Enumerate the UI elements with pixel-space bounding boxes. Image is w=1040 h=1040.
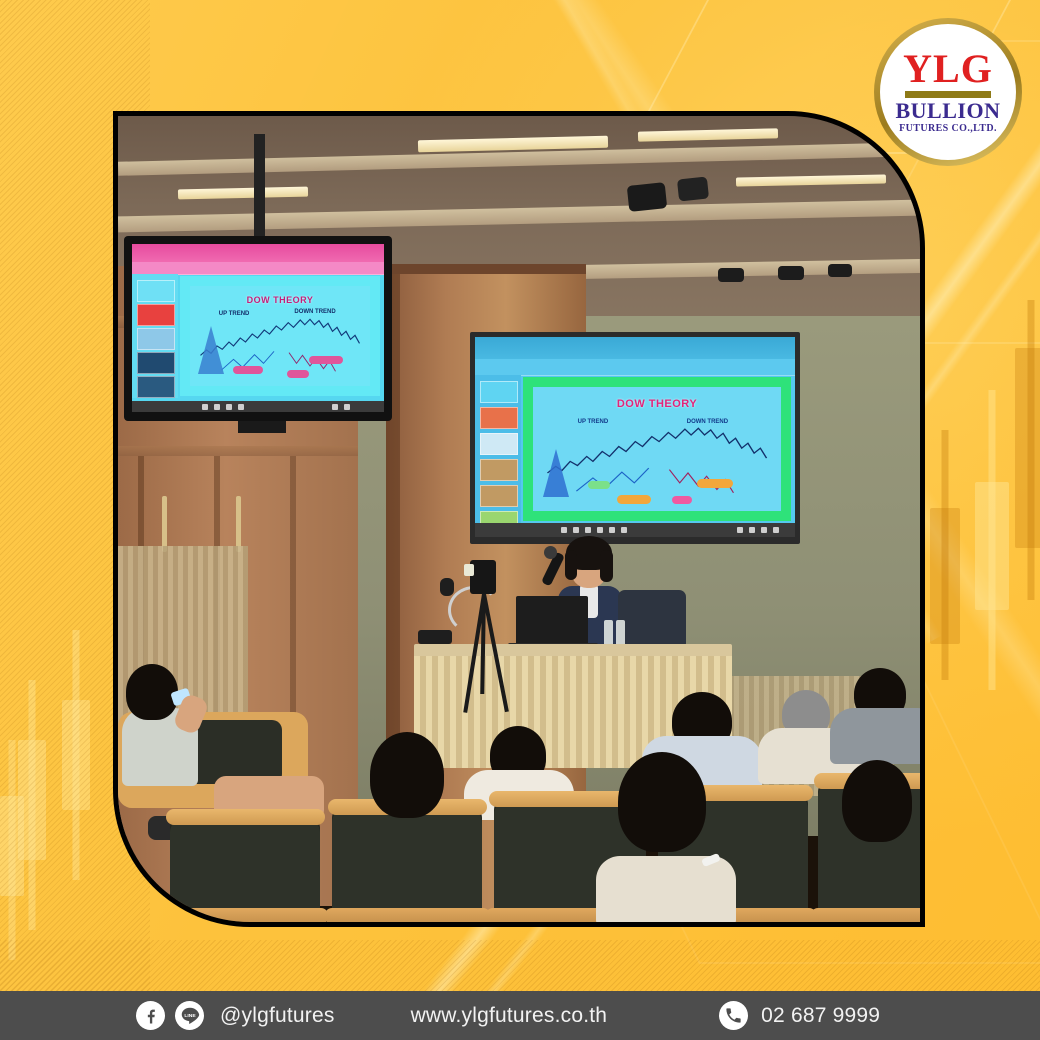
pillar-top-trim bbox=[386, 264, 586, 274]
phone-icon[interactable] bbox=[719, 1001, 748, 1030]
logo-divider-bar bbox=[905, 91, 991, 98]
ceiling-speaker bbox=[627, 182, 668, 212]
gooseneck-mic-head bbox=[440, 578, 454, 596]
projector-screen: DOW THEORY UP TREND DOWN TREND bbox=[475, 337, 795, 537]
presenter-hair bbox=[565, 550, 577, 580]
candlestick-decor bbox=[1015, 300, 1040, 600]
slide-thumbnail[interactable] bbox=[480, 381, 518, 403]
powerpoint-titlebar bbox=[132, 244, 384, 262]
slide-thumbnail[interactable] bbox=[480, 485, 518, 507]
slide-badge-sell bbox=[672, 496, 692, 504]
dow-theory-zigzag-chart bbox=[533, 387, 781, 511]
door-seam bbox=[290, 456, 296, 716]
slide-triangle-shape bbox=[543, 449, 569, 497]
slide-note-pill bbox=[233, 366, 263, 374]
attendee-head bbox=[126, 664, 178, 720]
slide-thumbnail[interactable] bbox=[480, 407, 518, 429]
desk-equipment bbox=[418, 630, 452, 644]
slide-canvas: DOW THEORY UP TREND DOWN TREND bbox=[180, 276, 380, 396]
website-text[interactable]: www.ylgfutures.co.th bbox=[411, 1004, 608, 1028]
phone-number-text[interactable]: 02 687 9999 bbox=[761, 1004, 880, 1028]
audience-shoulders bbox=[830, 708, 920, 764]
powerpoint-slide-panel bbox=[475, 375, 521, 523]
svg-text:LINE: LINE bbox=[184, 1012, 196, 1018]
door-handle bbox=[162, 496, 167, 552]
microphone-head bbox=[544, 546, 557, 559]
logo-inner: YLG BULLION FUTURES CO.,LTD. bbox=[880, 24, 1016, 160]
camera-lens bbox=[464, 564, 474, 576]
logo-bullion-text: BULLION bbox=[896, 100, 1001, 122]
seminar-photo: DOW THEORY UP TREND DOWN TREND bbox=[118, 116, 920, 922]
website-group[interactable]: www.ylgfutures.co.th bbox=[411, 1004, 608, 1028]
presenter-laptop bbox=[516, 596, 588, 646]
slide-note-pill bbox=[697, 479, 733, 488]
audience-shoulders-front bbox=[596, 856, 736, 922]
ceiling-speaker bbox=[677, 176, 709, 201]
slide-note-pill bbox=[309, 356, 343, 364]
powerpoint-titlebar bbox=[475, 337, 795, 359]
ylg-logo: YLG BULLION FUTURES CO.,LTD. bbox=[874, 18, 1022, 166]
door-handle bbox=[236, 496, 241, 552]
water-bottle bbox=[604, 620, 613, 646]
track-light bbox=[778, 266, 804, 280]
slide-content: DOW THEORY UP TREND DOWN TREND bbox=[190, 286, 370, 386]
audience-head-front bbox=[370, 732, 444, 818]
social-handle-text[interactable]: @ylgfutures bbox=[220, 1004, 335, 1028]
tv-mount-arm bbox=[254, 134, 265, 240]
slide-thumbnail[interactable] bbox=[137, 376, 175, 398]
powerpoint-slide-panel bbox=[132, 274, 178, 398]
powerpoint-ribbon bbox=[475, 359, 795, 376]
social-group[interactable]: LINE @ylgfutures bbox=[136, 1001, 335, 1030]
theater-seat bbox=[332, 806, 482, 922]
presenter-chair bbox=[618, 590, 686, 650]
slide-triangle-shape bbox=[198, 326, 224, 374]
slide-canvas: DOW THEORY UP TREND DOWN TREND bbox=[523, 377, 791, 521]
track-light bbox=[718, 268, 744, 282]
line-icon[interactable]: LINE bbox=[175, 1001, 204, 1030]
footer-bar: LINE @ylgfutures www.ylgfutures.co.th 02… bbox=[0, 991, 1040, 1040]
slide-badge-buy bbox=[588, 481, 610, 489]
presenter-hair bbox=[600, 550, 613, 582]
wood-trim bbox=[118, 446, 358, 456]
slide-thumbnail[interactable] bbox=[137, 328, 175, 350]
candlestick-decor bbox=[975, 390, 1009, 690]
logo-ylg-text: YLG bbox=[903, 50, 993, 88]
slide-thumbnail[interactable] bbox=[137, 352, 175, 374]
wall-monitor-screen: DOW THEORY UP TREND DOWN TREND bbox=[132, 244, 384, 412]
windows-taskbar bbox=[132, 401, 384, 412]
water-bottle bbox=[616, 620, 625, 646]
slide-thumbnail[interactable] bbox=[480, 459, 518, 481]
slide-thumbnail[interactable] bbox=[137, 304, 175, 326]
logo-futures-text: FUTURES CO.,LTD. bbox=[899, 123, 997, 134]
phone-group[interactable]: 02 687 9999 bbox=[719, 1001, 880, 1030]
candlestick-decor bbox=[930, 430, 960, 680]
theater-seat bbox=[170, 816, 320, 922]
slide-thumbnail[interactable] bbox=[137, 280, 175, 302]
monitor-stand bbox=[238, 421, 286, 433]
audience-head-front bbox=[618, 752, 706, 852]
slide-thumbnail[interactable] bbox=[480, 433, 518, 455]
facebook-icon[interactable] bbox=[136, 1001, 165, 1030]
track-light bbox=[828, 264, 852, 277]
audience-head-front bbox=[842, 760, 912, 842]
windows-taskbar bbox=[475, 523, 795, 537]
slide-note-pill bbox=[617, 495, 651, 504]
slide-note-pill bbox=[287, 370, 309, 378]
slide-content: DOW THEORY UP TREND DOWN TREND bbox=[533, 387, 781, 511]
